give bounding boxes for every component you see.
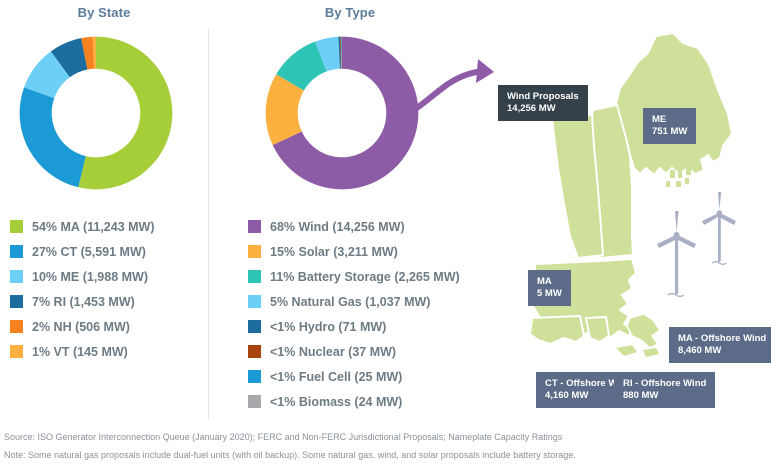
legend-item-label: 5% Natural Gas (1,037 MW) xyxy=(270,295,430,309)
legend-item-label: 10% ME (1,988 MW) xyxy=(32,270,148,284)
legend-swatch-icon xyxy=(248,270,261,283)
legend-item-ma[interactable]: 54% MA (11,243 MW) xyxy=(10,214,155,239)
legend-swatch-icon xyxy=(10,220,23,233)
legend-item-label: 27% CT (5,591 MW) xyxy=(32,245,146,259)
legend-item-biomass[interactable]: <1% Biomass (24 MW) xyxy=(248,389,460,414)
legend-by-state: 54% MA (11,243 MW)27% CT (5,591 MW)10% M… xyxy=(10,214,155,364)
legend-swatch-icon xyxy=(248,345,261,358)
panel-divider xyxy=(208,28,209,420)
callout-wind-proposals[interactable]: Wind Proposals 14,256 MW xyxy=(498,85,588,121)
callout-ma-value: 5 MW xyxy=(537,288,562,300)
legend-item-solar[interactable]: 15% Solar (3,211 MW) xyxy=(248,239,460,264)
arrow-shaft xyxy=(400,71,484,114)
callout-ma-offshore-wind-title: MA - Offshore Wind xyxy=(678,333,766,345)
legend-item-label: <1% Hydro (71 MW) xyxy=(270,320,386,334)
offshore-wind-turbine-icon-1 xyxy=(657,211,696,297)
legend-item-wind[interactable]: 68% Wind (14,256 MW) xyxy=(248,214,460,239)
callout-me[interactable]: ME 751 MW xyxy=(643,108,696,144)
legend-swatch-icon xyxy=(248,220,261,233)
legend-item-hydro[interactable]: <1% Hydro (71 MW) xyxy=(248,314,460,339)
callout-ma-offshore-wind[interactable]: MA - Offshore Wind 8,460 MW xyxy=(669,327,771,363)
legend-item-natural-gas[interactable]: 5% Natural Gas (1,037 MW) xyxy=(248,289,460,314)
map-state-rhode-island[interactable] xyxy=(586,317,609,342)
legend-item-label: <1% Fuel Cell (25 MW) xyxy=(270,370,402,384)
legend-item-nuclear[interactable]: <1% Nuclear (37 MW) xyxy=(248,339,460,364)
page-title-by-type: By Type xyxy=(214,5,486,20)
legend-item-label: 7% RI (1,453 MW) xyxy=(32,295,135,309)
offshore-wind-turbine-icon-2 xyxy=(702,192,736,264)
callout-ma[interactable]: MA 5 MW xyxy=(528,270,571,306)
callout-ri-offshore-wind-title: RI - Offshore Wind xyxy=(623,378,706,390)
legend-swatch-icon xyxy=(10,270,23,283)
legend-item-label: 2% NH (506 MW) xyxy=(32,320,130,334)
footnote-note: Note: Some natural gas proposals include… xyxy=(4,450,576,460)
legend-item-label: <1% Nuclear (37 MW) xyxy=(270,345,396,359)
map-state-maine[interactable] xyxy=(616,33,732,175)
footnote-source: Source: ISO Generator Interconnection Qu… xyxy=(4,432,562,442)
legend-swatch-icon xyxy=(10,245,23,258)
callout-ma-title: MA xyxy=(537,276,562,288)
legend-item-label: 68% Wind (14,256 MW) xyxy=(270,220,405,234)
callout-wind-proposals-title: Wind Proposals xyxy=(507,91,579,103)
legend-swatch-icon xyxy=(248,395,261,408)
legend-item-label: 11% Battery Storage (2,265 MW) xyxy=(270,270,460,284)
map-state-connecticut[interactable] xyxy=(530,316,584,344)
legend-item-ri[interactable]: 7% RI (1,453 MW) xyxy=(10,289,155,314)
map-land-group xyxy=(530,33,732,357)
callout-ri-offshore-wind-value: 880 MW xyxy=(623,390,706,402)
legend-item-vt[interactable]: 1% VT (145 MW) xyxy=(10,339,155,364)
legend-item-nh[interactable]: 2% NH (506 MW) xyxy=(10,314,155,339)
callout-ma-offshore-wind-value: 8,460 MW xyxy=(678,345,766,357)
callout-wind-proposals-value: 14,256 MW xyxy=(507,103,579,115)
legend-swatch-icon xyxy=(10,345,23,358)
donut-slice-ct[interactable] xyxy=(20,87,86,187)
legend-item-label: 54% MA (11,243 MW) xyxy=(32,220,155,234)
legend-swatch-icon xyxy=(248,245,261,258)
legend-swatch-icon xyxy=(10,320,23,333)
legend-swatch-icon xyxy=(248,370,261,383)
map-island-nantucket xyxy=(643,348,659,357)
callout-me-title: ME xyxy=(652,114,687,126)
donut-chart-by-state xyxy=(13,30,179,196)
legend-item-label: 1% VT (145 MW) xyxy=(32,345,128,359)
legend-item-me[interactable]: 10% ME (1,988 MW) xyxy=(10,264,155,289)
callout-ri-offshore-wind[interactable]: RI - Offshore Wind 880 MW xyxy=(614,372,715,408)
legend-item-ct[interactable]: 27% CT (5,591 MW) xyxy=(10,239,155,264)
legend-item-fuel-cell[interactable]: <1% Fuel Cell (25 MW) xyxy=(248,364,460,389)
callout-me-value: 751 MW xyxy=(652,126,687,138)
legend-by-type: 68% Wind (14,256 MW)15% Solar (3,211 MW)… xyxy=(248,214,460,414)
legend-item-label: 15% Solar (3,211 MW) xyxy=(270,245,398,259)
map-cape-cod[interactable] xyxy=(627,314,660,348)
legend-swatch-icon xyxy=(10,295,23,308)
legend-swatch-icon xyxy=(248,295,261,308)
legend-item-battery-storage[interactable]: 11% Battery Storage (2,265 MW) xyxy=(248,264,460,289)
legend-swatch-icon xyxy=(248,320,261,333)
page-title-by-state: By State xyxy=(0,5,208,20)
legend-item-label: <1% Biomass (24 MW) xyxy=(270,395,402,409)
map-island-marthas-vineyard xyxy=(616,345,637,356)
donut-chart-by-state-svg xyxy=(13,30,179,196)
